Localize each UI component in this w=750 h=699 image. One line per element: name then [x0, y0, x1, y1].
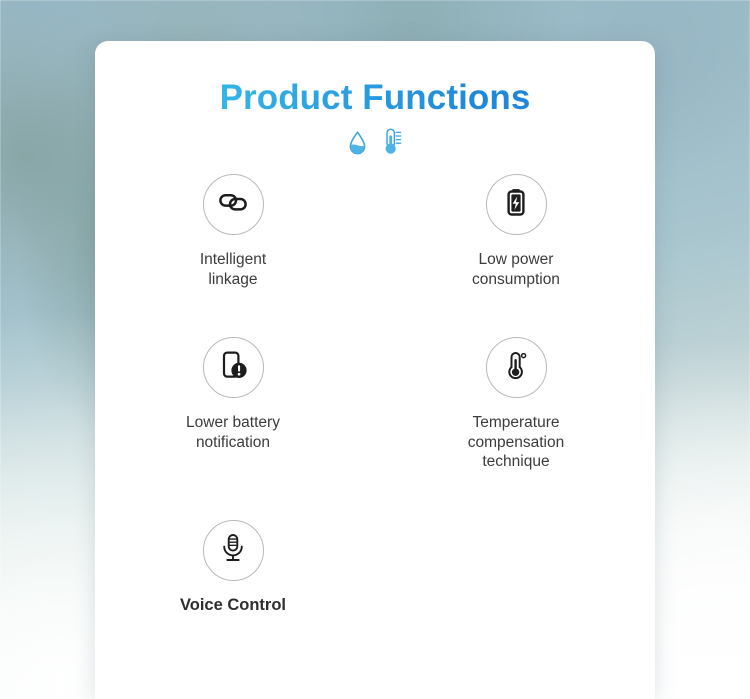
feature-label: Voice Control [180, 596, 286, 616]
battery-bolt-icon [500, 186, 532, 223]
feature-item-voice-control[interactable]: Voice Control [95, 520, 375, 616]
feature-label: Temperature compensation technique [468, 413, 565, 472]
thermometer-icon [383, 128, 402, 160]
feature-icon-circle [486, 337, 547, 398]
feature-label: Lower battery notification [186, 413, 280, 452]
feature-item-low-power-consumption[interactable]: Low power consumption [375, 174, 655, 289]
feature-item-intelligent-linkage[interactable]: Intelligent linkage [95, 174, 375, 289]
feature-icon-circle [203, 520, 264, 581]
header-icon-row [95, 130, 655, 160]
feature-item-lower-battery-notification[interactable]: Lower battery notification [95, 337, 375, 472]
feature-label: Low power consumption [472, 250, 560, 289]
link-icon [216, 185, 250, 224]
feature-icon-circle [203, 174, 264, 235]
feature-icon-circle [203, 337, 264, 398]
water-drop-icon [349, 131, 366, 160]
feature-label: Intelligent linkage [200, 250, 266, 289]
feature-item-temperature-compensation[interactable]: Temperature compensation technique [375, 337, 655, 472]
feature-icon-circle [486, 174, 547, 235]
microphone-icon [217, 532, 249, 569]
phone-alert-icon [217, 349, 249, 386]
product-functions-card: Product Functions [95, 41, 655, 699]
feature-grid: Intelligent linkage Low power consumptio… [95, 174, 655, 615]
thermometer-degree-icon [500, 349, 532, 386]
page-title: Product Functions [95, 78, 655, 118]
